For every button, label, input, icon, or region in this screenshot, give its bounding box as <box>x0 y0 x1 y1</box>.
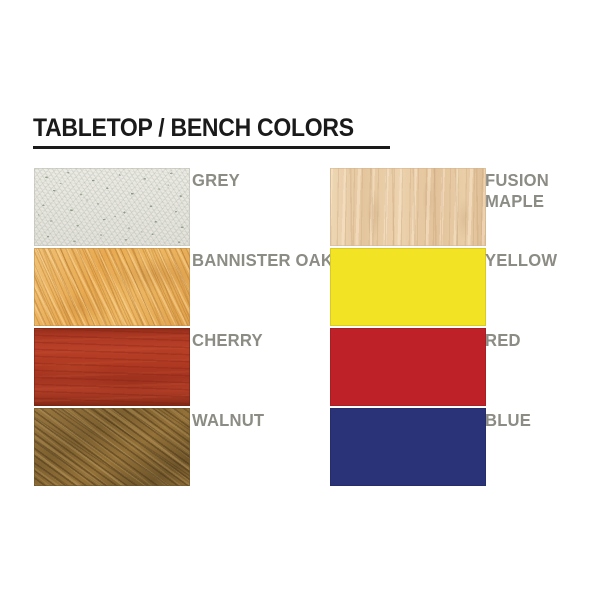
swatch-row: CHERRY <box>34 328 304 408</box>
swatch-grey[interactable] <box>34 168 190 246</box>
swatch-column-left: GREY BANNISTER OAK CHERRY WALNUT <box>34 168 304 488</box>
swatch-blue[interactable] <box>330 408 486 486</box>
swatch-label-grey: GREY <box>192 170 335 191</box>
swatch-row: WALNUT <box>34 408 304 488</box>
swatch-label-red: RED <box>485 330 599 351</box>
swatch-row: YELLOW <box>330 248 595 328</box>
page-title: TABLETOP / BENCH COLORS <box>33 115 364 141</box>
swatch-bannister-oak[interactable] <box>34 248 190 326</box>
swatch-label-bannister-oak: BANNISTER OAK <box>192 250 335 271</box>
swatch-row: GREY <box>34 168 304 248</box>
swatch-fusion-maple[interactable] <box>330 168 486 246</box>
title-underline-rule <box>33 146 390 149</box>
swatch-walnut[interactable] <box>34 408 190 486</box>
swatch-row: BANNISTER OAK <box>34 248 304 328</box>
swatch-label-fusion-maple: FUSION MAPLE <box>485 170 599 212</box>
swatch-yellow[interactable] <box>330 248 486 326</box>
color-chart-sheet: TABLETOP / BENCH COLORS GREY BANNISTER O… <box>0 0 600 600</box>
swatch-label-blue: BLUE <box>485 410 599 431</box>
swatch-label-cherry: CHERRY <box>192 330 335 351</box>
swatch-column-right: FUSION MAPLE YELLOW RED BLUE <box>330 168 595 488</box>
swatch-row: BLUE <box>330 408 595 488</box>
swatch-row: RED <box>330 328 595 408</box>
swatch-label-yellow: YELLOW <box>485 250 599 271</box>
chart-header: TABLETOP / BENCH COLORS <box>33 115 393 149</box>
swatch-red[interactable] <box>330 328 486 406</box>
swatch-label-walnut: WALNUT <box>192 410 335 431</box>
swatch-row: FUSION MAPLE <box>330 168 595 248</box>
swatch-cherry[interactable] <box>34 328 190 406</box>
